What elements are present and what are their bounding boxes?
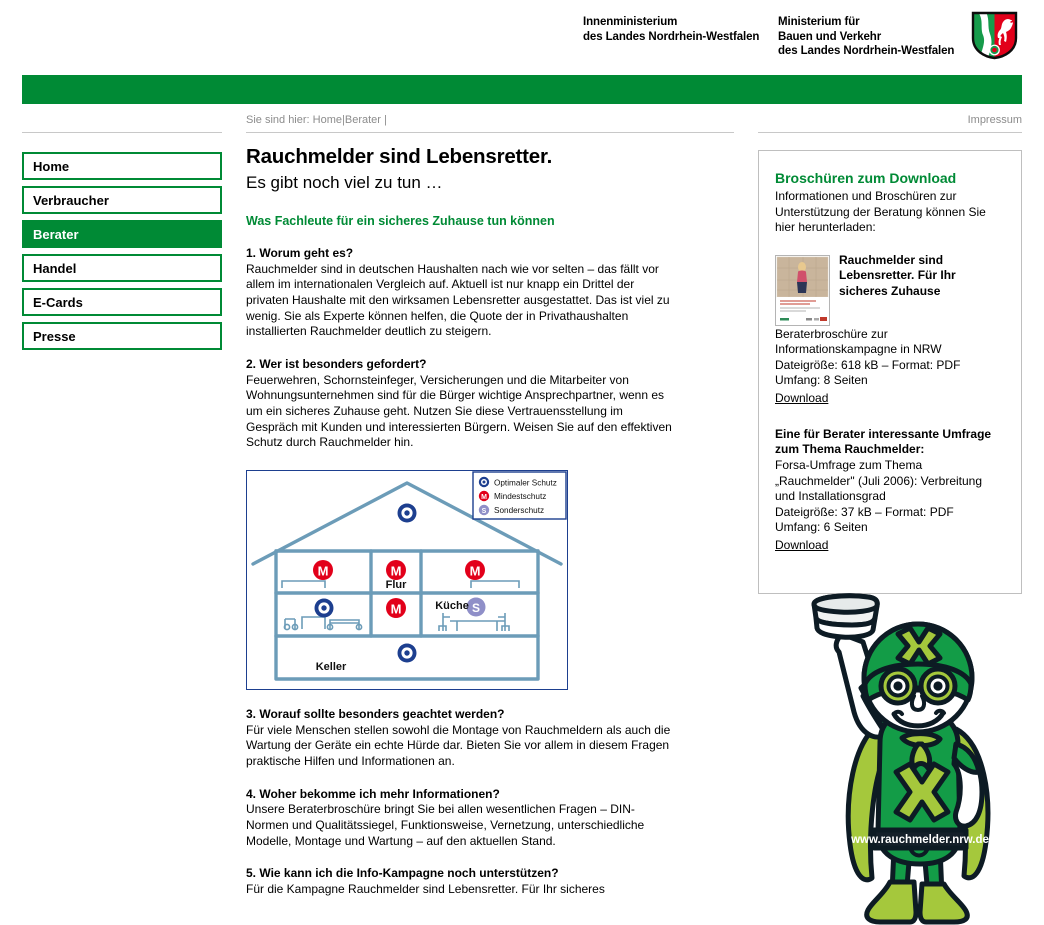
brochure-item-2: Eine für Berater interessante Umfrage zu…	[775, 427, 1005, 554]
svg-text:Optimaler Schutz: Optimaler Schutz	[494, 479, 557, 488]
content-section-2: 2. Wer ist besonders gefordert? Feuerweh…	[246, 357, 676, 451]
brochure-item-1: Rauchmelder sind Lebensretter. Für Ihr s…	[775, 253, 1005, 407]
marker-minimum-lower-hallway: M	[386, 598, 406, 618]
brochure-2-pages: Umfang: 6 Seiten	[775, 520, 1005, 536]
content-section-4: 4. Woher bekomme ich mehr Informationen?…	[246, 787, 676, 850]
rauchmelder-superhero-mascot: www.rauchmelder.nrw.de	[806, 592, 1026, 925]
sidebar-item-handel[interactable]: Handel	[22, 254, 222, 282]
section-2-body: Feuerwehren, Schornsteinfeger, Versicher…	[246, 373, 676, 452]
ministry-interior-logo: Innenministerium des Landes Nordrhein-We…	[583, 15, 759, 44]
impressum-link[interactable]: Impressum	[968, 114, 1022, 126]
section-4-body: Unsere Beraterbroschüre bringt Sie bei a…	[246, 802, 676, 849]
content-section-3: 3. Worauf sollte besonders geachtet werd…	[246, 707, 676, 770]
site-header: Innenministerium des Landes Nordrhein-We…	[0, 0, 1044, 68]
svg-text:Küche: Küche	[435, 600, 469, 612]
ministry-interior-line-1: Innenministerium	[583, 15, 759, 30]
brand-green-bar	[22, 75, 1022, 104]
page-subtitle: Es gibt noch viel zu tun …	[246, 172, 676, 193]
svg-text:Sonderschutz: Sonderschutz	[494, 506, 544, 515]
section-2-title: 2. Wer ist besonders gefordert?	[246, 357, 676, 373]
marker-optimal-attic	[398, 504, 417, 523]
ministry-interior-line-2: des Landes Nordrhein-Westfalen	[583, 30, 759, 45]
breadcrumb: Sie sind hier: Home|Berater |	[246, 114, 387, 126]
svg-text:M: M	[391, 564, 402, 579]
ministry-building-line-1: Ministerium für	[778, 15, 954, 30]
section-5-title: 5. Wie kann ich die Info-Kampagne noch u…	[246, 866, 676, 882]
svg-text:Keller: Keller	[316, 661, 347, 673]
breadcrumb-trailing: |	[384, 114, 387, 126]
brochure-1-description: Beraterbroschüre zur Informationskampagn…	[775, 327, 1005, 358]
section-1-body: Rauchmelder sind in deutschen Haushalten…	[246, 262, 676, 341]
header-rule-left	[22, 132, 222, 133]
brochure-2-download-link[interactable]: Download	[775, 538, 828, 552]
sidebar-item-ecards[interactable]: E-Cards	[22, 288, 222, 316]
page-title: Rauchmelder sind Lebensretter.	[246, 145, 676, 169]
nrw-coat-of-arms-icon	[971, 11, 1018, 60]
section-lead-in: Was Fachleute für ein sicheres Zuhause t…	[246, 213, 676, 229]
header-rule-right	[758, 132, 1022, 133]
section-3-title: 3. Worauf sollte besonders geachtet werd…	[246, 707, 676, 723]
svg-text:Flur: Flur	[386, 579, 407, 591]
page-root: Innenministerium des Landes Nordrhein-We…	[0, 0, 1044, 925]
breadcrumb-prefix: Sie sind hier:	[246, 114, 310, 126]
brochure-2-title: Eine für Berater interessante Umfrage zu…	[775, 427, 1005, 458]
marker-optimal-living-room	[315, 599, 334, 618]
brochure-1-download-link[interactable]: Download	[775, 391, 828, 405]
download-box-intro: Informationen und Broschüren zur Unterst…	[775, 189, 1005, 236]
svg-text:M: M	[318, 564, 329, 579]
brochure-2-description: Forsa-Umfrage zum Thema „Rauchmelder" (J…	[775, 458, 1005, 505]
svg-text:M: M	[391, 602, 402, 617]
diagram-legend: Optimaler Schutz M Mindestschutz S Sonde…	[473, 472, 566, 519]
content-section-5: 5. Wie kann ich die Info-Kampagne noch u…	[246, 866, 676, 897]
main-navigation: Home Verbraucher Berater Handel E-Cards …	[22, 152, 222, 356]
sidebar-item-home[interactable]: Home	[22, 152, 222, 180]
main-content: Rauchmelder sind Lebensretter. Es gibt n…	[246, 145, 676, 897]
brochure-1-pages: Umfang: 8 Seiten	[775, 373, 1005, 389]
svg-text:Mindestschutz: Mindestschutz	[494, 492, 546, 501]
section-5-body: Für die Kampagne Rauchmelder sind Lebens…	[246, 882, 676, 898]
section-4-title: 4. Woher bekomme ich mehr Informationen?	[246, 787, 676, 803]
ministry-building-line-3: des Landes Nordrhein-Westfalen	[778, 44, 954, 59]
section-1-title: 1. Worum geht es?	[246, 246, 676, 262]
marker-special-kitchen: S	[467, 598, 486, 617]
download-box: Broschüren zum Download Informationen un…	[758, 150, 1022, 594]
section-3-body: Für viele Menschen stellen sowohl die Mo…	[246, 723, 676, 770]
brochure-1-filesize: Dateigröße: 618 kB – Format: PDF	[775, 358, 1005, 374]
brochure-cover-thumbnail[interactable]	[775, 255, 830, 326]
ministry-building-line-2: Bauen und Verkehr	[778, 30, 954, 45]
download-box-title: Broschüren zum Download	[775, 169, 1005, 187]
sidebar-item-verbraucher[interactable]: Verbraucher	[22, 186, 222, 214]
marker-minimum-upper-right: M	[465, 560, 485, 580]
content-section-1: 1. Worum geht es? Rauchmelder sind in de…	[246, 246, 676, 340]
breadcrumb-item-berater[interactable]: Berater	[345, 114, 381, 126]
ministry-building-logo: Ministerium für Bauen und Verkehr des La…	[778, 15, 954, 59]
svg-text:M: M	[481, 494, 487, 501]
svg-text:www.rauchmelder.nrw.de: www.rauchmelder.nrw.de	[850, 834, 989, 846]
marker-optimal-basement	[398, 644, 417, 663]
header-rule-center	[246, 132, 734, 133]
svg-text:S: S	[482, 508, 487, 515]
brochure-2-filesize: Dateigröße: 37 kB – Format: PDF	[775, 505, 1005, 521]
svg-text:M: M	[470, 564, 481, 579]
marker-minimum-upper-hallway: M	[386, 560, 406, 580]
sidebar-item-presse[interactable]: Presse	[22, 322, 222, 350]
sidebar-item-berater[interactable]: Berater	[22, 220, 222, 248]
marker-minimum-upper-left: M	[313, 560, 333, 580]
breadcrumb-item-home[interactable]: Home	[313, 114, 342, 126]
svg-text:S: S	[472, 601, 480, 615]
smoke-detector-placement-diagram: M M M	[246, 470, 568, 690]
